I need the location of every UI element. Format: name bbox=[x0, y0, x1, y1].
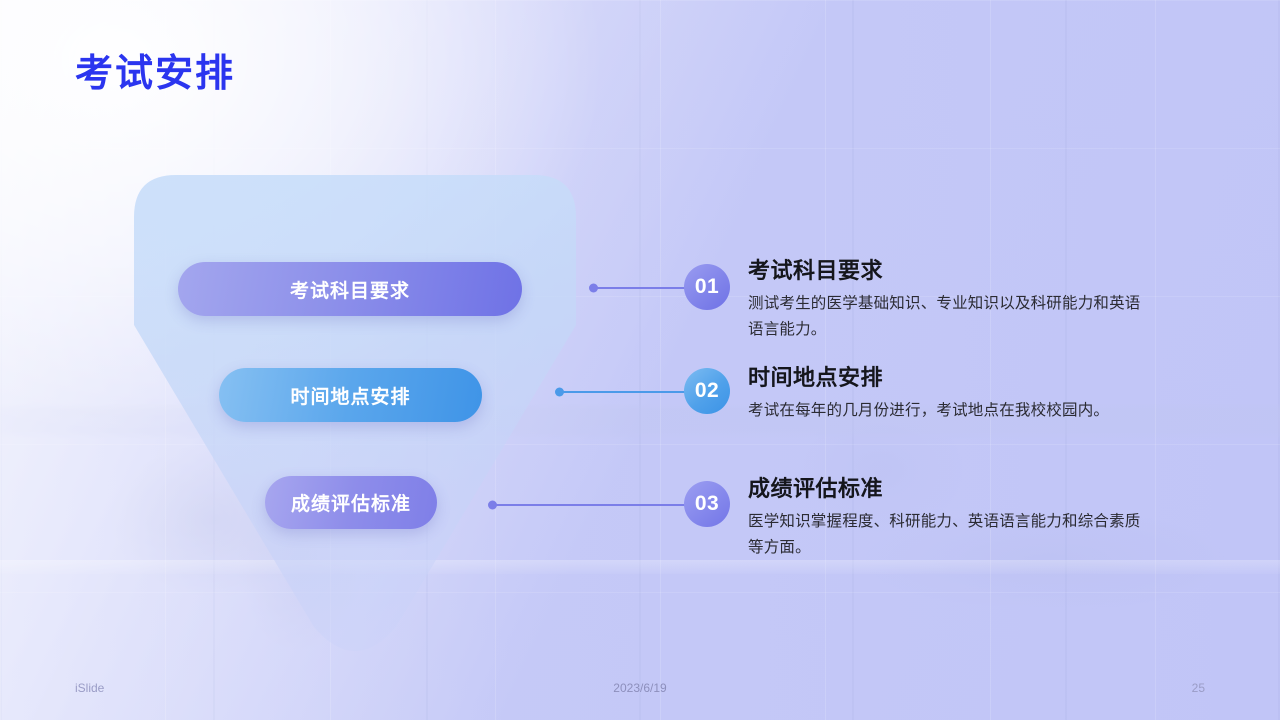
connector-stroke-3 bbox=[493, 504, 701, 506]
funnel-step-1-label: 考试科目要求 bbox=[290, 276, 410, 303]
connector-line-2 bbox=[556, 391, 700, 393]
item-number-3: 03 bbox=[695, 492, 719, 516]
funnel-step-3[interactable]: 成绩评估标准 bbox=[265, 476, 437, 529]
item-heading-2: 时间地点安排 bbox=[748, 360, 1148, 392]
page-title: 考试安排 bbox=[75, 52, 235, 98]
item-number-1: 01 bbox=[695, 275, 719, 299]
footer-date: 2023/6/19 bbox=[0, 681, 1280, 695]
item-block-2: 时间地点安排 考试在每年的几月份进行，考试地点在我校校园内。 bbox=[748, 360, 1148, 424]
item-number-badge-2: 02 bbox=[684, 368, 730, 414]
connector-stroke-2 bbox=[560, 391, 700, 393]
item-body-1: 测试考生的医学基础知识、专业知识以及科研能力和英语语言能力。 bbox=[748, 291, 1148, 342]
funnel-step-2-label: 时间地点安排 bbox=[290, 382, 410, 409]
item-block-3: 成绩评估标准 医学知识掌握程度、科研能力、英语语言能力和综合素质等方面。 bbox=[748, 471, 1148, 560]
item-number-badge-1: 01 bbox=[684, 264, 730, 310]
item-heading-1: 考试科目要求 bbox=[748, 253, 1148, 285]
funnel-step-3-label: 成绩评估标准 bbox=[291, 489, 411, 516]
item-body-3: 医学知识掌握程度、科研能力、英语语言能力和综合素质等方面。 bbox=[748, 509, 1148, 560]
connector-line-3 bbox=[489, 504, 701, 506]
item-number-badge-3: 03 bbox=[684, 481, 730, 527]
item-number-2: 02 bbox=[695, 379, 719, 403]
item-heading-3: 成绩评估标准 bbox=[748, 471, 1148, 503]
footer-page-number: 25 bbox=[1192, 681, 1205, 695]
funnel-step-1[interactable]: 考试科目要求 bbox=[178, 262, 522, 316]
slide-canvas: 考试安排 考试科目要求 时间地点安排 成绩评估标准 01 02 03 考试科目要… bbox=[0, 0, 1280, 720]
item-block-1: 考试科目要求 测试考生的医学基础知识、专业知识以及科研能力和英语语言能力。 bbox=[748, 253, 1148, 342]
funnel-step-2[interactable]: 时间地点安排 bbox=[219, 368, 482, 422]
item-body-2: 考试在每年的几月份进行，考试地点在我校校园内。 bbox=[748, 398, 1148, 424]
